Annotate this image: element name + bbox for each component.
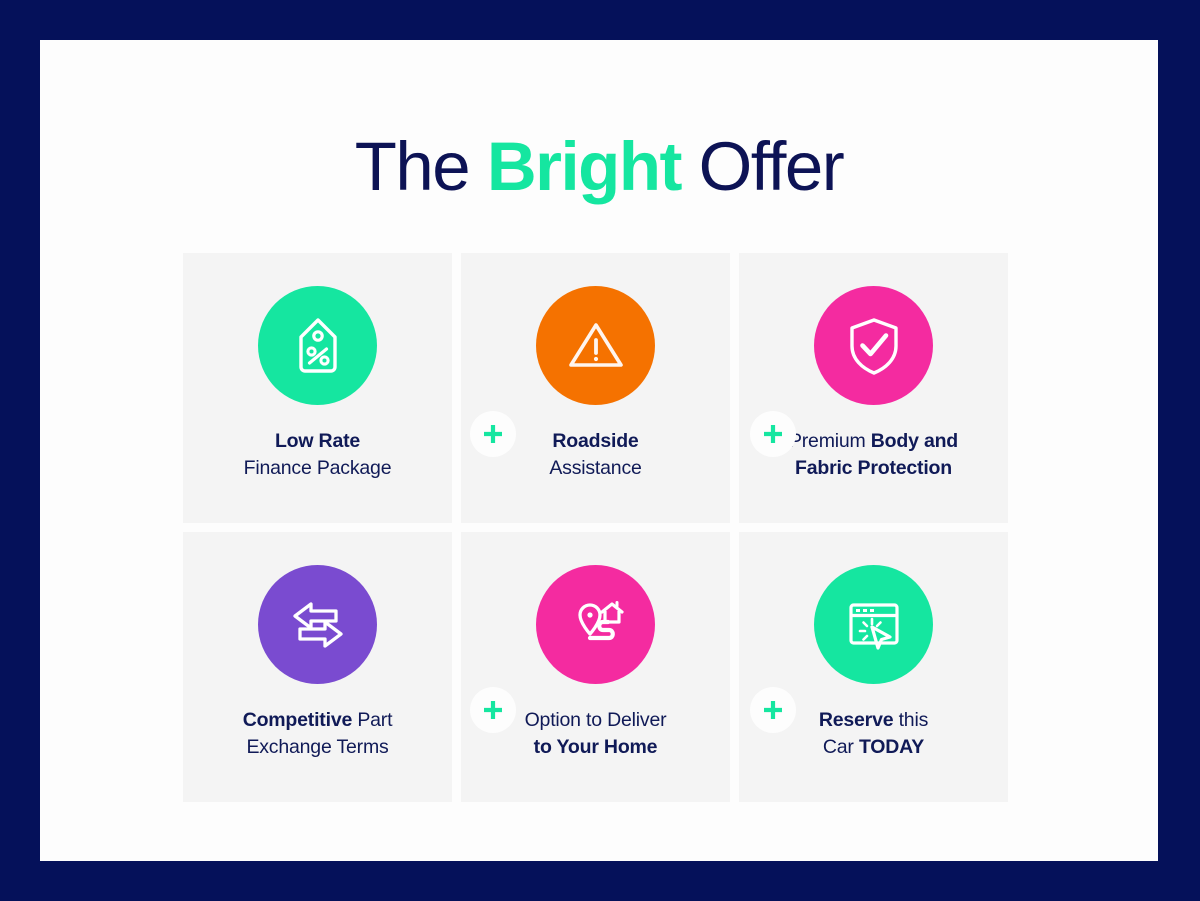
label-line1-bold: Low Rate — [275, 430, 360, 452]
exchange-arrows-icon — [258, 565, 377, 684]
offer-card-label: Low Rate Finance Package — [234, 428, 402, 482]
title-part-the: The — [355, 128, 487, 205]
offer-card-label: Reserve this Car TODAY — [809, 707, 938, 761]
white-panel: The Bright Offer Low Rate — [40, 40, 1158, 861]
label-line1-bold: Reserve — [819, 709, 894, 731]
plus-separator-icon-2 — [750, 411, 796, 457]
navy-frame: The Bright Offer Low Rate — [0, 0, 1200, 901]
shield-check-icon — [814, 286, 933, 405]
browser-click-icon — [814, 565, 933, 684]
page-title: The Bright Offer — [40, 132, 1158, 201]
offer-card-label: Premium Body and Fabric Protection — [779, 428, 968, 482]
label-line2-bold: Fabric Protection — [795, 457, 952, 479]
label-line2-regular: Finance Package — [244, 457, 392, 479]
label-line1-bold: Roadside — [552, 430, 638, 452]
label-line2-regular: Exchange Terms — [246, 736, 388, 758]
label-line1-regular: Part — [352, 709, 392, 731]
map-pin-road-house-icon — [536, 565, 655, 684]
label-line2-regular: Assistance — [549, 457, 641, 479]
label-line1-regular: this — [893, 709, 928, 731]
label-line2-regular: Car — [823, 736, 859, 758]
title-part-bright: Bright — [487, 128, 681, 205]
offer-card-home-delivery[interactable]: Option to Deliver to Your Home — [461, 532, 730, 802]
warning-triangle-icon — [536, 286, 655, 405]
offer-card-label: Option to Deliver to Your Home — [515, 707, 677, 761]
price-tag-percent-icon — [258, 286, 377, 405]
offer-card-label: Roadside Assistance — [539, 428, 651, 482]
offer-card-part-exchange[interactable]: Competitive Part Exchange Terms — [183, 532, 452, 802]
title-part-offer: Offer — [681, 128, 843, 205]
label-line1-bold: Body and — [871, 430, 958, 452]
offer-card-body-fabric-protection[interactable]: Premium Body and Fabric Protection — [739, 253, 1008, 523]
label-line1-regular: Premium — [789, 430, 871, 452]
label-line1-bold: Competitive — [243, 709, 352, 731]
offer-card-reserve-today[interactable]: Reserve this Car TODAY — [739, 532, 1008, 802]
label-line1-regular: Option to Deliver — [525, 709, 667, 731]
label-line2-bold: TODAY — [859, 736, 924, 758]
offer-card-label: Competitive Part Exchange Terms — [233, 707, 403, 761]
plus-separator-icon-1 — [470, 411, 516, 457]
plus-separator-icon-3 — [470, 687, 516, 733]
plus-separator-icon-4 — [750, 687, 796, 733]
offer-card-low-rate-finance[interactable]: Low Rate Finance Package — [183, 253, 452, 523]
offer-grid: Low Rate Finance Package — [183, 253, 1008, 802]
label-line2-bold: to Your Home — [534, 736, 658, 758]
offer-card-roadside-assistance[interactable]: Roadside Assistance — [461, 253, 730, 523]
